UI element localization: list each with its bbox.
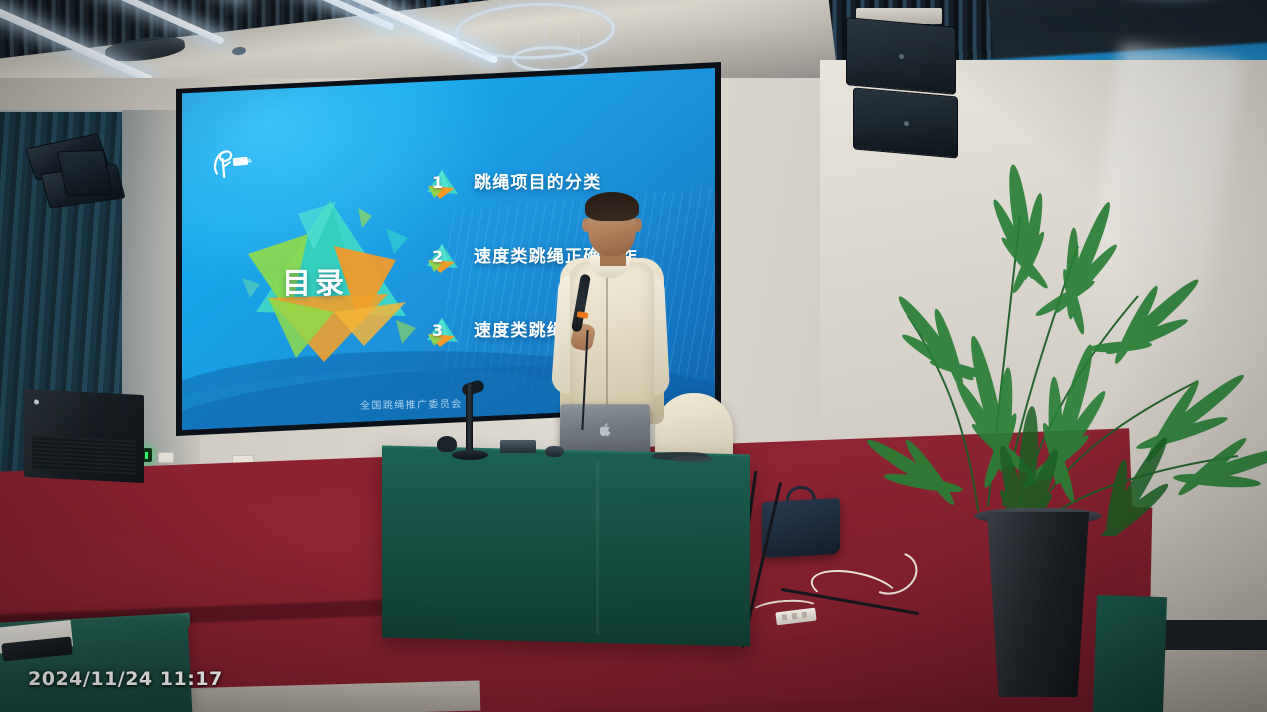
pendant-wire [500,0,501,8]
timestamp-overlay: 2024/11/24 11:17 [28,668,223,690]
pendant-wire [578,24,579,50]
wall-speaker-left [57,150,113,197]
presenter-table [382,448,750,647]
slide-footer-text: 全国跳绳推广委员会 [360,395,463,412]
agenda-number: 2 [432,247,443,266]
agenda-number: 3 [432,321,443,340]
power-led [34,399,39,404]
macbook-laptop[interactable] [560,404,651,456]
agenda-label: 跳绳项目的分类 [474,168,601,193]
pendant-wire [545,22,546,50]
wall-outlet[interactable] [158,452,174,463]
tablecloth-fold [596,462,599,634]
agenda-number-badge: 2 [425,242,459,274]
organization-logo: CRSA [207,144,262,182]
agenda-number-badge: 1 [425,168,459,200]
floor-subwoofer [24,389,144,483]
presenter-hair [585,192,639,221]
speaker-grill [32,435,136,474]
desk-cable [672,456,712,462]
ring-pendant-lamp-small [512,46,588,72]
desk-object [437,436,457,452]
photo-scene: CRSA 目录 [0,0,1267,712]
gooseneck-microphone-stand [466,384,473,456]
potted-palm-plant [838,66,1267,536]
computer-mouse[interactable] [545,446,564,457]
microphone-base [452,450,488,460]
slide-title: 目录 [282,260,348,302]
apple-logo-icon [600,423,611,436]
agenda-number: 1 [432,173,443,192]
agenda-number-badge: 3 [425,316,459,348]
planter-pot [980,512,1096,697]
desk-device[interactable] [500,440,536,453]
vest-zipper [606,266,608,414]
slide-decorative-art: 目录 [238,194,433,366]
foreground-table-right [1093,595,1167,712]
